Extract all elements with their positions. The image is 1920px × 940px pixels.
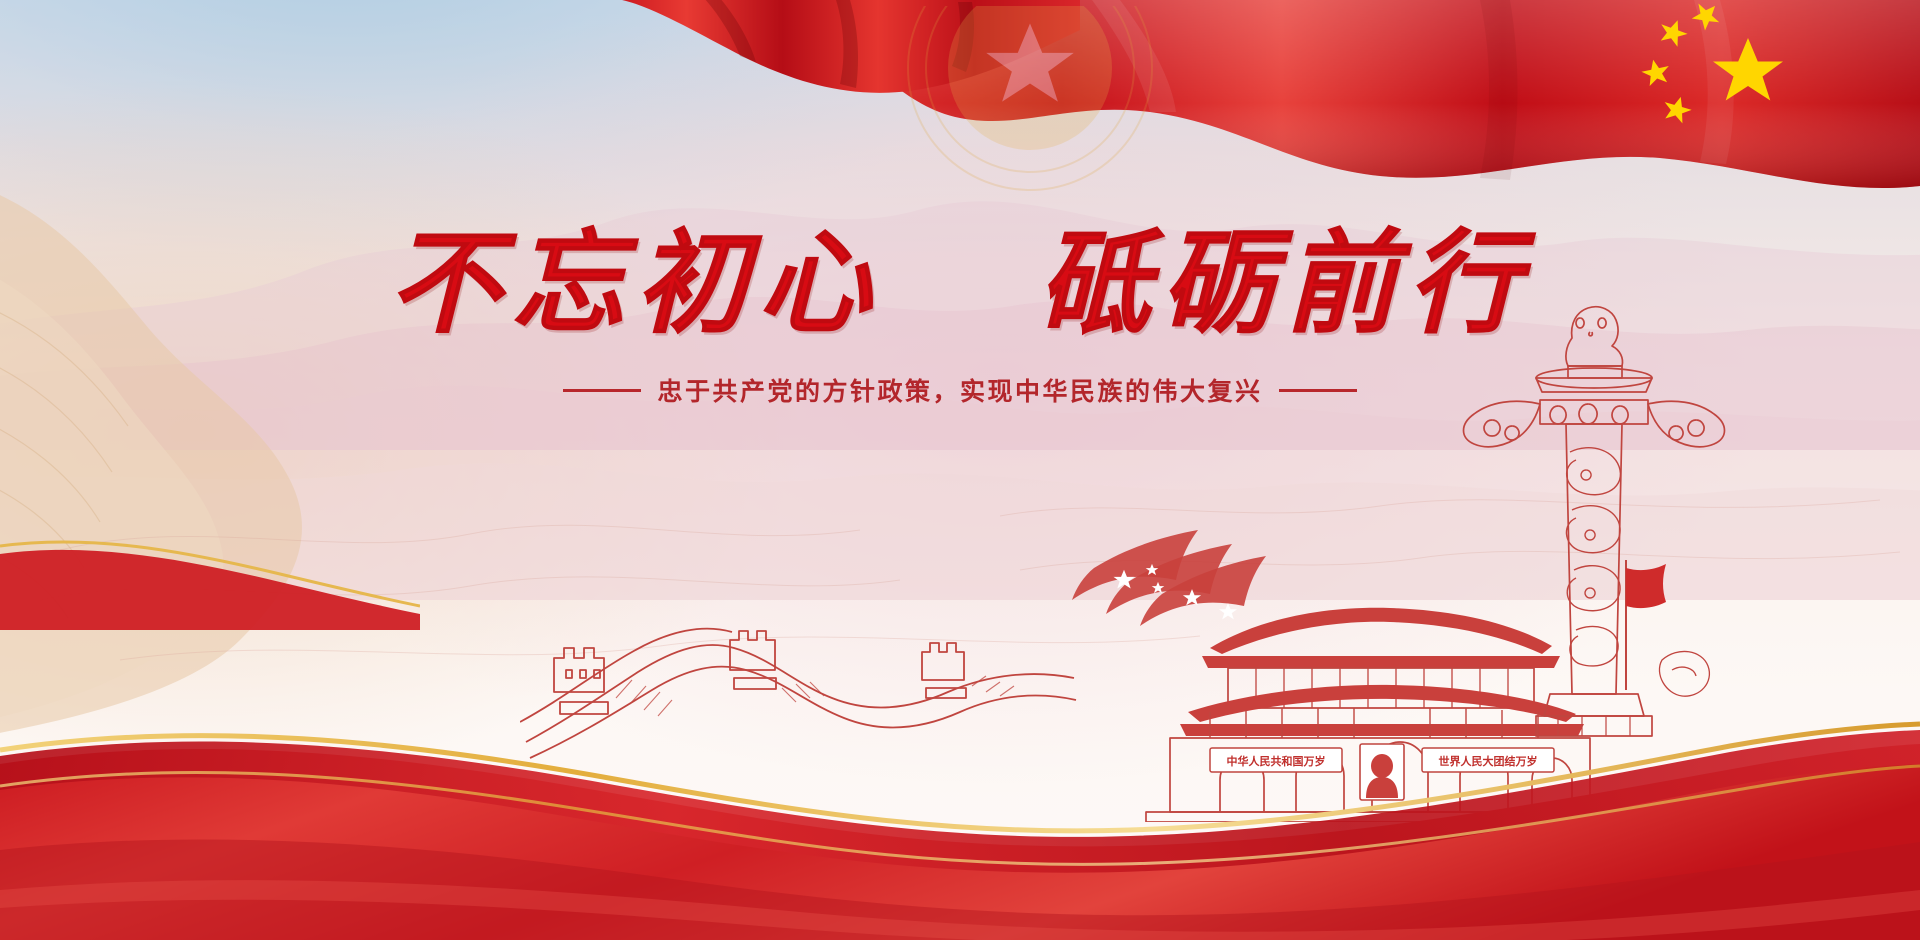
subtitle-rule-left — [563, 389, 641, 392]
poster-canvas: 不忘初心 砥砺前行 忠于共产党的方针政策，实现中华民族的伟大复兴 — [0, 0, 1920, 940]
subtitle-text: 忠于共产党的方针政策，实现中华民族的伟大复兴 — [657, 372, 1262, 408]
subtitle-rule-right — [1279, 389, 1357, 392]
poster-subtitle: 忠于共产党的方针政策，实现中华民族的伟大复兴 — [0, 372, 1920, 408]
title-part-2: 砥砺前行 — [1038, 218, 1531, 349]
sunburst-medallion — [770, 6, 1290, 196]
title-part-1: 不忘初心 — [389, 218, 882, 349]
left-ribbon-tail — [0, 510, 420, 630]
poster-title: 不忘初心 砥砺前行 — [0, 228, 1920, 340]
